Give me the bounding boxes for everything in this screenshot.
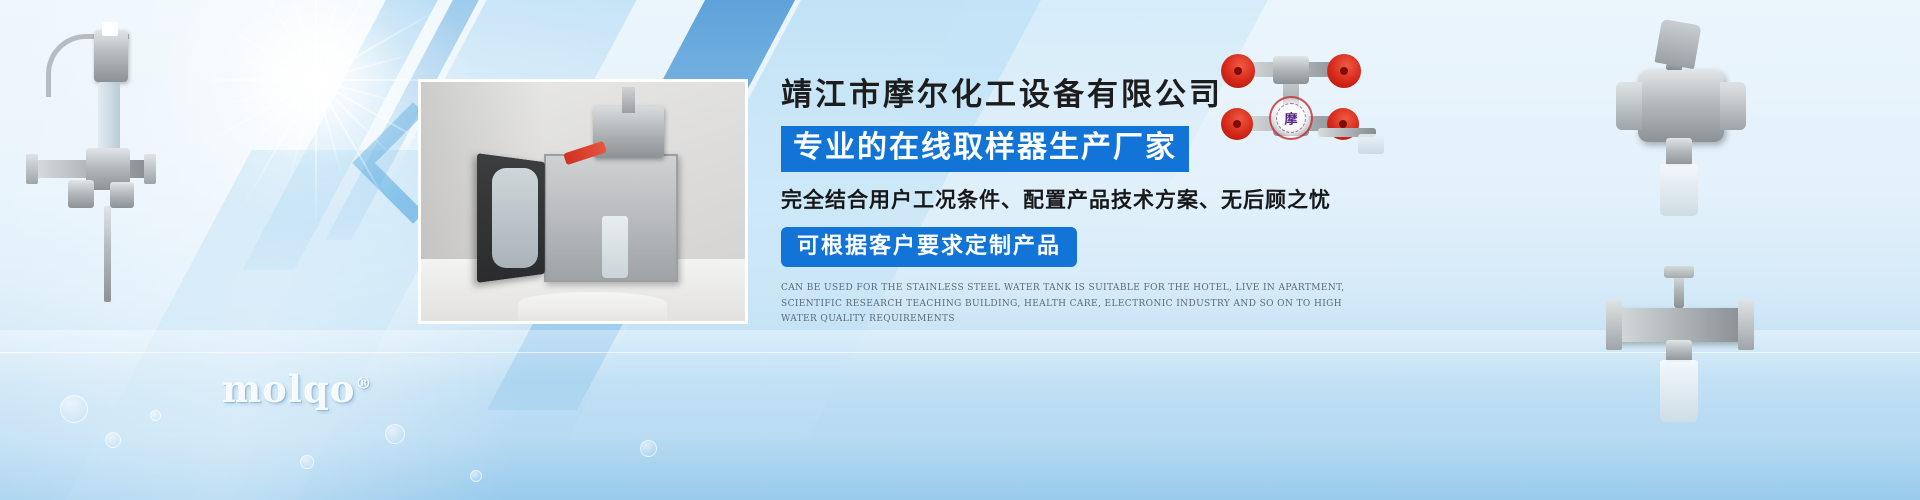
valve-head	[94, 30, 128, 82]
sun-ray	[288, 0, 317, 80]
flange	[144, 154, 156, 184]
sun-ray	[315, 80, 344, 182]
sun-ray	[315, 79, 391, 155]
sun-ray	[214, 52, 316, 81]
sun-ray	[240, 0, 317, 81]
sun-ray	[214, 79, 316, 108]
sample-bottle	[1660, 164, 1698, 216]
stainless-steel-sampler-cabinet-photo	[418, 79, 748, 324]
valve-body	[68, 180, 94, 208]
indicator-tag	[102, 22, 118, 36]
sun-ray	[315, 0, 317, 80]
sun-ray	[288, 80, 317, 182]
sun-ray	[240, 80, 317, 211]
bubble	[105, 432, 121, 448]
cross-body	[1273, 56, 1309, 84]
sun-ray	[166, 79, 316, 81]
red-handwheel	[1221, 54, 1255, 88]
flange	[1616, 82, 1642, 130]
lever-grip	[1654, 19, 1701, 69]
sun-ray	[241, 5, 317, 81]
sun-ray	[315, 80, 392, 211]
valve-body	[110, 182, 134, 208]
valve-body	[1638, 70, 1724, 142]
sun-ray	[186, 4, 317, 81]
bubble	[385, 424, 405, 444]
watermark-text: molqo	[222, 367, 355, 411]
sun-ray	[315, 80, 317, 230]
bubble	[60, 395, 88, 423]
mounting-stem	[104, 206, 111, 302]
sample-bottle	[1660, 360, 1698, 422]
sun-ray	[315, 0, 392, 81]
outlet-stub	[1318, 122, 1388, 156]
bubble	[150, 410, 161, 421]
sun-ray	[316, 79, 418, 108]
sun-ray	[316, 52, 418, 81]
promotional-banner: 靖江市摩尔化工设备有限公司 专业的在线取样器生产厂家 完全结合用户工况条件、配置…	[0, 0, 1920, 500]
outlet-neck	[1666, 138, 1692, 166]
outlet-neck	[1666, 340, 1692, 362]
english-caption: CAN BE USED FOR THE STAINLESS STEEL WATE…	[781, 281, 1381, 328]
lever-handle-valve	[1608, 26, 1758, 226]
sub-headline: 完全结合用户工况条件、配置产品技术方案、无后顾之忧	[781, 188, 1421, 213]
inline-body	[1612, 308, 1748, 342]
company-seal-stamp: 摩	[1269, 96, 1313, 140]
sight-glass	[98, 82, 120, 154]
bubble	[300, 455, 314, 469]
bubble	[470, 470, 482, 482]
brand-watermark: molqo®	[222, 367, 372, 411]
customization-badge: 可根据客户要求定制产品	[781, 227, 1077, 267]
sun-ray	[186, 79, 317, 156]
registered-mark-icon: ®	[355, 374, 372, 393]
tagline-highlight: 专业的在线取样器生产厂家	[781, 126, 1189, 172]
sampling-valve-assembly-left	[12, 30, 172, 300]
flange	[1720, 82, 1746, 130]
sun-ray	[315, 0, 344, 80]
sun-ray	[316, 4, 447, 81]
red-handwheel	[1327, 54, 1361, 88]
seal-mark: 摩	[1284, 109, 1297, 128]
bubble	[640, 440, 657, 457]
flange	[1606, 300, 1622, 350]
sun-ray	[241, 79, 317, 155]
flanged-inline-sampler	[1606, 272, 1766, 462]
red-handwheel	[1221, 108, 1253, 140]
flange	[26, 154, 38, 184]
flange	[1738, 300, 1754, 350]
sun-ray	[315, 5, 391, 81]
stem-cap	[1664, 266, 1694, 278]
